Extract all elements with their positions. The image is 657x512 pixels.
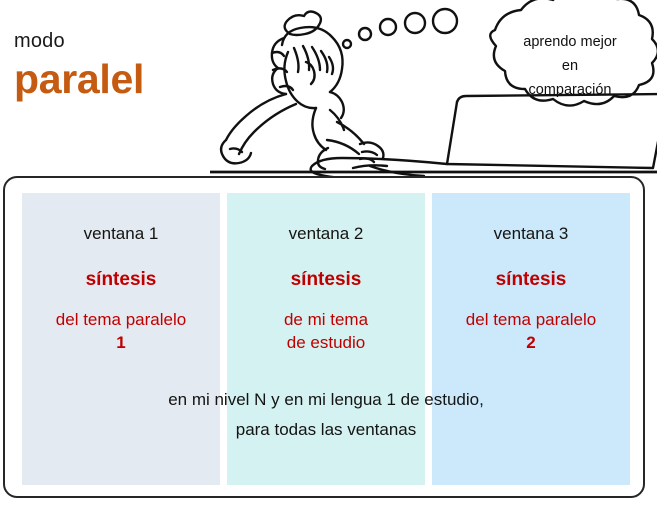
window-1-title: ventana 1 <box>22 224 220 244</box>
window-2-title: ventana 2 <box>227 224 425 244</box>
window-2-desc-line-2: de estudio <box>287 333 365 352</box>
window-1-description: del tema paralelo 1 <box>22 309 220 355</box>
window-column-3[interactable]: ventana 3 síntesis del tema paralelo 2 <box>432 193 630 485</box>
mode-label: modo <box>14 30 214 52</box>
window-2-description: de mi tema de estudio <box>227 309 425 355</box>
windows-columns: ventana 1 síntesis del tema paralelo 1 v… <box>22 193 630 485</box>
thought-line-1: aprendo mejor <box>523 34 617 50</box>
windows-frame: ventana 1 síntesis del tema paralelo 1 v… <box>3 176 645 498</box>
thought-line-2: en <box>562 58 578 74</box>
window-3-description: del tema paralelo 2 <box>432 309 630 355</box>
thought-dot-2 <box>359 28 371 40</box>
window-3-title: ventana 3 <box>432 224 630 244</box>
window-3-heading: síntesis <box>432 269 630 292</box>
header-area: modo paralel <box>0 0 657 176</box>
window-3-desc-line-1: del tema paralelo <box>466 310 596 329</box>
title-block: modo paralel <box>14 30 214 103</box>
window-1-desc-line-2: 1 <box>22 332 220 355</box>
window-2-desc-line-1: de mi tema <box>284 310 368 329</box>
window-column-2[interactable]: ventana 2 síntesis de mi tema de estudio <box>227 193 425 485</box>
thought-dot-5 <box>433 9 457 33</box>
window-1-desc-line-1: del tema paralelo <box>56 310 186 329</box>
student-at-laptop-illustration: aprendo mejor en comparación <box>210 0 657 176</box>
window-2-heading: síntesis <box>227 269 425 292</box>
window-column-1[interactable]: ventana 1 síntesis del tema paralelo 1 <box>22 193 220 485</box>
thought-dot-3 <box>380 19 396 35</box>
thought-line-3: comparación <box>528 82 611 98</box>
thought-dot-1 <box>343 40 351 48</box>
mode-name: paralel <box>14 56 214 103</box>
window-1-heading: síntesis <box>22 269 220 292</box>
window-3-desc-line-2: 2 <box>432 332 630 355</box>
thought-dot-4 <box>405 13 425 33</box>
